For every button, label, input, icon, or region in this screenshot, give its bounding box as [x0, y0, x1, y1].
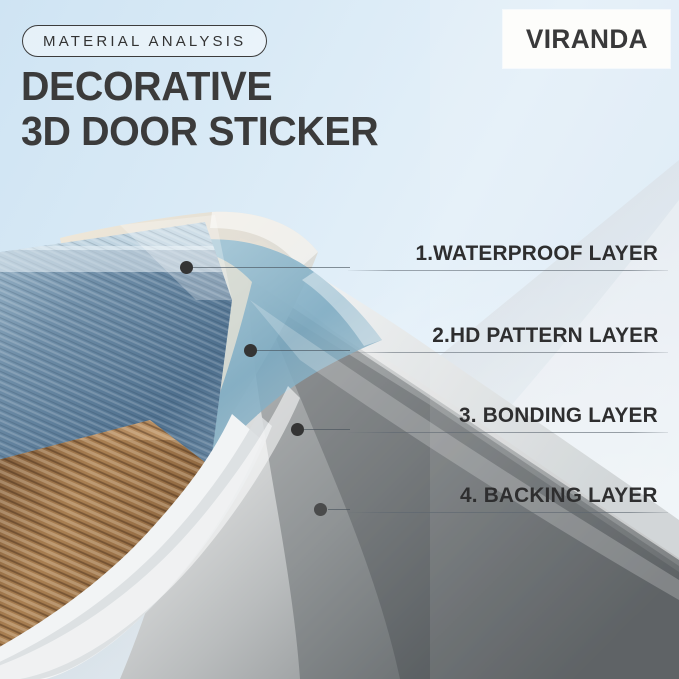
callout-rule	[348, 432, 668, 433]
material-analysis-badge: MATERIAL ANALYSIS	[22, 25, 267, 57]
callout-label: 2.HD PATTERN LAYER	[432, 324, 658, 348]
callout-rule	[348, 512, 668, 513]
callout-rule	[348, 352, 668, 353]
anchor-dot-hd-pattern	[244, 344, 257, 357]
leader-line-waterproof	[192, 267, 350, 268]
brand-name: VIRANDA	[525, 24, 647, 55]
poster-canvas: MATERIAL ANALYSIS DECORATIVE 3D DOOR STI…	[0, 0, 679, 679]
badge-label: MATERIAL ANALYSIS	[43, 33, 246, 50]
anchor-dot-waterproof	[180, 261, 193, 274]
callout-label: 4. BACKING LAYER	[460, 484, 658, 508]
anchor-dot-bonding	[291, 423, 304, 436]
leader-line-backing	[328, 509, 350, 510]
leader-line-bonding	[304, 429, 350, 430]
anchor-dot-backing	[314, 503, 327, 516]
brand-logo: VIRANDA	[503, 10, 670, 68]
callout-label: 3. BONDING LAYER	[459, 404, 658, 428]
title-line-2: 3D DOOR STICKER	[21, 109, 378, 154]
leader-line-hd-pattern	[256, 350, 350, 351]
callout-rule	[348, 270, 668, 271]
callout-label: 1.WATERPROOF LAYER	[415, 242, 658, 266]
title-line-1: DECORATIVE	[21, 63, 272, 109]
page-title: DECORATIVE 3D DOOR STICKER	[21, 64, 378, 154]
